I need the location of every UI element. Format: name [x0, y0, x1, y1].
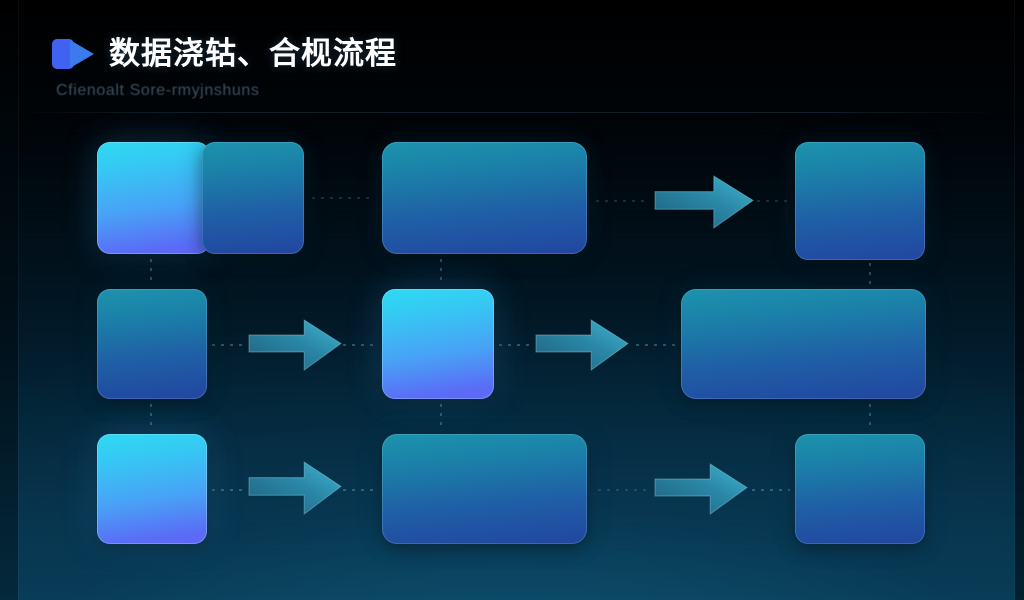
flow-connector-v3 [869, 263, 871, 285]
flow-node-r3n2[interactable] [382, 434, 587, 544]
flow-connector-v6 [869, 404, 871, 430]
flow-connector-v5 [440, 404, 442, 430]
flow-connector-v2 [440, 259, 442, 285]
flow-connector-r3c2 [343, 489, 377, 491]
flow-row-3 [0, 0, 1024, 600]
slide-canvas: 数据浇轱、合枧流程 Cfienoalt Sore-rmyjnshuns [0, 0, 1024, 600]
flow-arrow-r3a2 [655, 464, 747, 514]
flow-node-r3n1[interactable] [97, 434, 207, 544]
flow-arrow-r3a1 [249, 462, 341, 514]
flow-node-r3n3[interactable] [795, 434, 925, 544]
flow-connector-v4 [150, 404, 152, 430]
flow-connector-r3c4 [752, 489, 790, 491]
flow-connector-r3c1 [212, 489, 244, 491]
flow-connector-v1 [150, 259, 152, 285]
flow-connector-r3c3 [598, 489, 648, 491]
